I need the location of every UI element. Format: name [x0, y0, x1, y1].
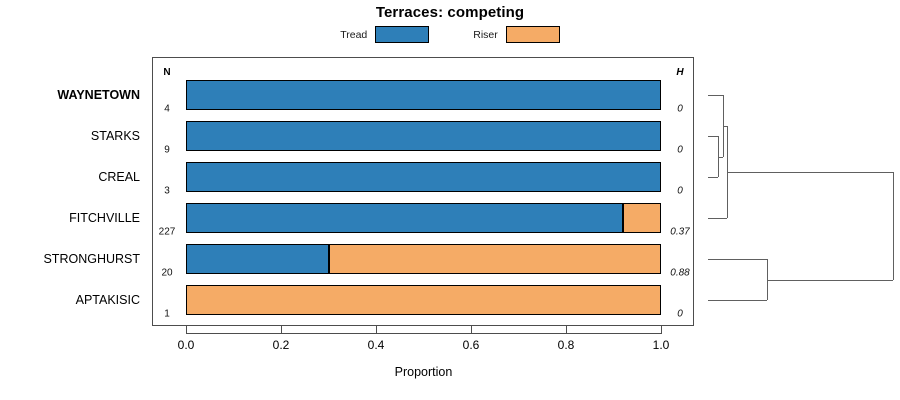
x-tick-mark [566, 326, 567, 334]
dendrogram-branch [708, 259, 767, 260]
dendrogram-branch [708, 300, 767, 301]
x-tick-mark [471, 326, 472, 334]
bar-row [186, 80, 661, 110]
bar-row [186, 285, 661, 315]
x-tick-label: 0.8 [558, 338, 575, 352]
bar-segment-tread [186, 162, 661, 192]
dendrogram-branch [727, 172, 893, 173]
bar-row [186, 244, 661, 274]
x-tick-label: 0.2 [273, 338, 290, 352]
bar-segment-tread [186, 203, 623, 233]
dendrogram-branch [708, 136, 718, 137]
dendrogram-branch [708, 177, 718, 178]
x-tick-mark [661, 326, 662, 334]
chart-figure: Terraces: competing Tread Riser WAYNETOW… [0, 0, 900, 400]
bar-segment-riser [329, 244, 662, 274]
bar-segment-riser [186, 285, 661, 315]
bar-segment-tread [186, 80, 661, 110]
x-tick-label: 0.6 [463, 338, 480, 352]
dendrogram [700, 57, 900, 326]
bar-segment-riser [623, 203, 661, 233]
dendrogram-branch [708, 95, 723, 96]
dendrogram-branch [767, 280, 893, 281]
x-tick-mark [376, 326, 377, 334]
x-axis-title: Proportion [186, 365, 661, 379]
bar-row [186, 121, 661, 151]
bar-segment-tread [186, 121, 661, 151]
x-tick-mark [281, 326, 282, 334]
x-tick-mark [186, 326, 187, 334]
x-tick-label: 0.4 [368, 338, 385, 352]
x-tick-label: 0.0 [178, 338, 195, 352]
bar-segment-tread [186, 244, 329, 274]
bar-row [186, 203, 661, 233]
dendrogram-branch [708, 218, 727, 219]
dendrogram-branch [893, 172, 894, 280]
dendrogram-branch [718, 157, 723, 158]
x-axis-line [186, 333, 661, 334]
x-tick-label: 1.0 [653, 338, 670, 352]
bar-row [186, 162, 661, 192]
